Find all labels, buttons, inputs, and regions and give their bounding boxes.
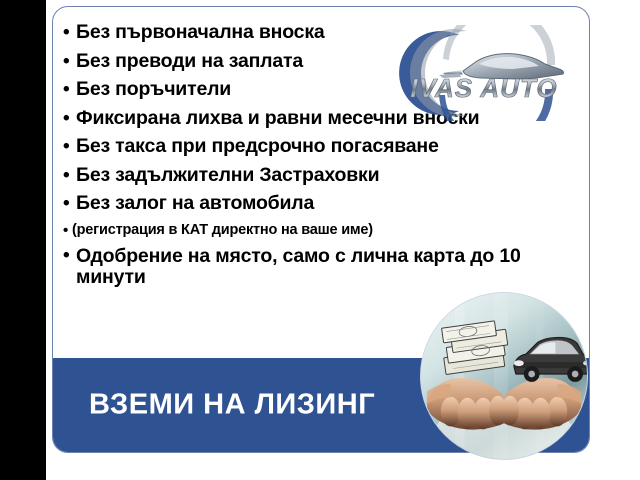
list-item: • Без залог на автомобила [63,194,587,214]
ivas-auto-logo: IVAS AUTO [393,25,575,121]
list-item-label: Без задължителни Застраховки [76,166,587,186]
poster-canvas: • Без първоначална вноска • Без преводи … [0,0,640,480]
bullet-marker-icon: • [63,52,76,71]
bullet-marker-icon: • [63,137,76,156]
bullet-marker-icon: • [63,194,76,213]
bullet-marker-icon: • [63,223,72,238]
bullet-marker-icon: • [63,166,76,185]
list-item-label: Без такса при предсрочно погасяване [76,137,587,157]
hands-holding-money-and-car-photo [420,292,588,460]
bullet-marker-icon: • [63,246,76,265]
bullet-marker-icon: • [63,80,76,99]
list-item: • (регистрация в КАТ директно на ваше им… [63,223,587,238]
list-item-label: (регистрация в КАТ директно на ваше име) [72,223,587,238]
left-black-bar [0,0,46,480]
bullet-marker-icon: • [63,109,76,128]
list-item-label: Без залог на автомобила [76,194,587,214]
list-item: • Одобрение на място, само с лична карта… [63,246,587,290]
logo-wordmark: IVAS AUTO [410,73,557,103]
list-item-label: Одобрение на място, само с лична карта д… [76,246,587,290]
banner-headline: ВЗЕМИ НА ЛИЗИНГ [89,389,375,422]
bullet-marker-icon: • [63,23,76,42]
list-item: • Без задължителни Застраховки [63,166,587,186]
list-item: • Без такса при предсрочно погасяване [63,137,587,157]
